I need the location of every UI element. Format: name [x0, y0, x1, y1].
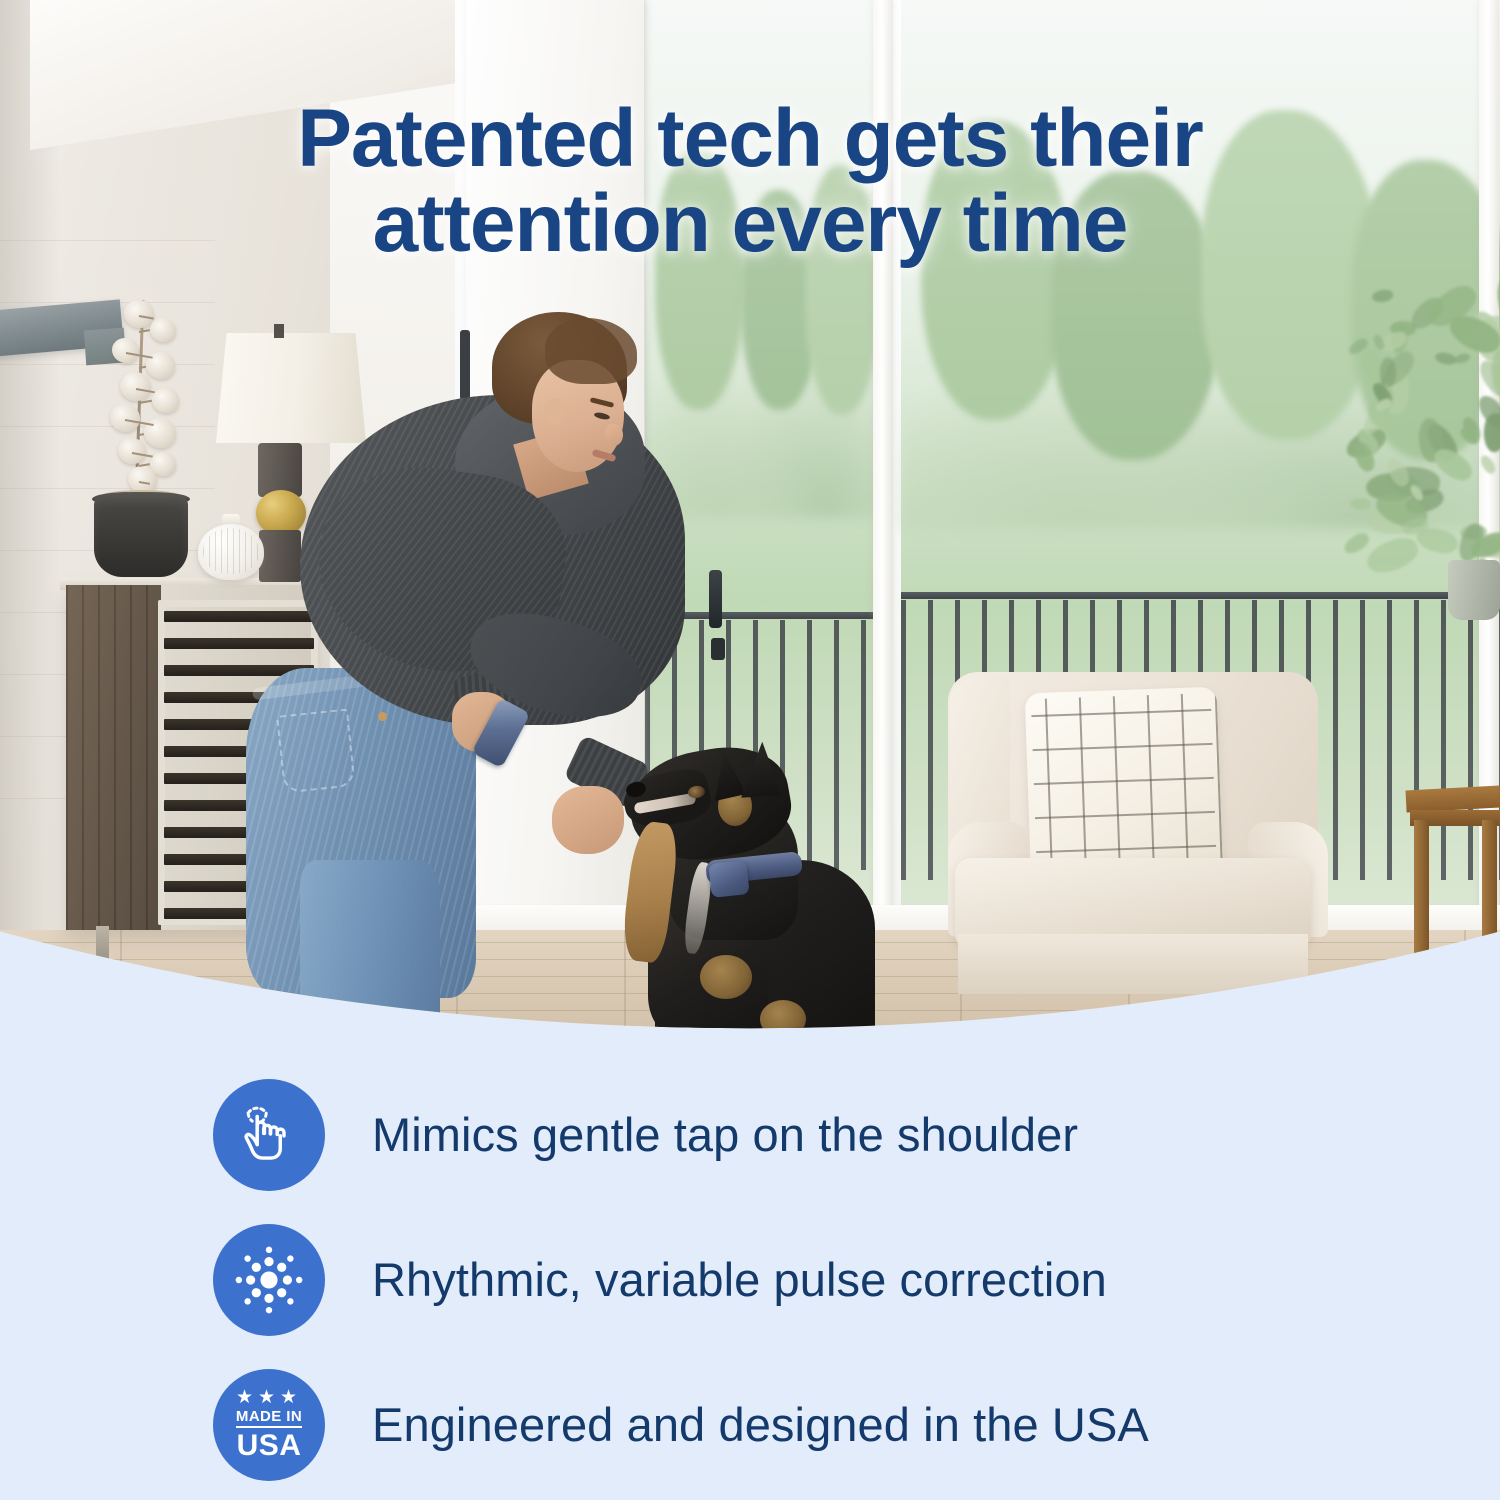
badge-made-in-text: MADE IN	[236, 1409, 302, 1428]
headline-line-1: Patented tech gets their	[0, 96, 1500, 181]
feature-list: Mimics gentle tap on the shoulder	[0, 1062, 1500, 1497]
feature-row-usa: ★★★ MADE IN USA Engineered and designed …	[0, 1352, 1500, 1497]
dog-tan-marking	[700, 955, 752, 999]
headline-line-2: attention every time	[0, 181, 1500, 266]
feature-row-tap: Mimics gentle tap on the shoulder	[0, 1062, 1500, 1207]
feature-label-pulse: Rhythmic, variable pulse correction	[372, 1252, 1107, 1307]
pulse-dots-icon	[213, 1224, 325, 1336]
made-in-usa-icon: ★★★ MADE IN USA	[213, 1369, 325, 1481]
dog-tan-marking	[760, 1000, 806, 1038]
product-feature-card: Patented tech gets their attention every…	[0, 0, 1500, 1500]
feature-label-usa: Engineered and designed in the USA	[372, 1397, 1149, 1452]
made-in-usa-badge: ★★★ MADE IN USA	[230, 1388, 308, 1461]
training-collar-receiver	[708, 860, 749, 898]
badge-stars: ★★★	[236, 1388, 302, 1407]
feature-row-pulse: Rhythmic, variable pulse correction	[0, 1207, 1500, 1352]
feature-label-tap: Mimics gentle tap on the shoulder	[372, 1107, 1078, 1162]
headline: Patented tech gets their attention every…	[0, 96, 1500, 267]
tap-hand-icon	[213, 1079, 325, 1191]
badge-country-text: USA	[237, 1431, 302, 1461]
